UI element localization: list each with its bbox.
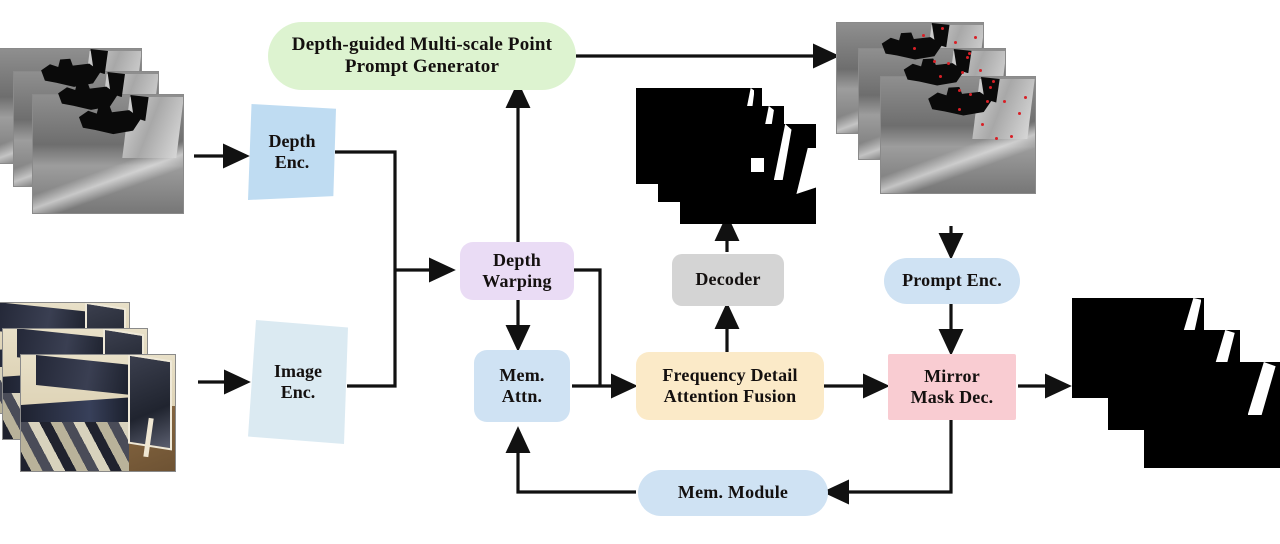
depth-input-stack <box>0 48 196 233</box>
wire-depthenc-rail <box>335 152 395 270</box>
output-mask-frame-3 <box>1144 362 1280 468</box>
depth-frame-3 <box>32 94 184 214</box>
node-mem-attn[interactable]: Mem. Attn. <box>474 350 570 422</box>
wire-imageenc-rail <box>347 270 395 386</box>
image-encoder-label: Image Enc. <box>274 361 322 403</box>
freq-fusion-label: Frequency Detail Attention Fusion <box>636 365 824 407</box>
wire-depthwarping-branch-rail <box>572 270 600 386</box>
rgb-input-stack <box>0 302 194 492</box>
depth-encoder-label: Depth Enc. <box>268 131 315 173</box>
rgb-frame-3 <box>20 354 176 472</box>
decoder-label: Decoder <box>672 269 784 290</box>
node-prompt-encoder[interactable]: Prompt Enc. <box>884 258 1020 304</box>
node-image-encoder[interactable]: Image Enc. <box>248 320 348 444</box>
prompt-encoder-label: Prompt Enc. <box>884 270 1020 291</box>
depth-warping-label: Depth Warping <box>460 250 574 292</box>
node-prompt-generator[interactable]: Depth-guided Multi-scale Point Prompt Ge… <box>268 22 576 90</box>
mirror-mask-decoder-label: Mirror Mask Dec. <box>888 366 1016 408</box>
mask-frame-3 <box>680 124 816 224</box>
mem-attn-label: Mem. Attn. <box>474 365 570 407</box>
node-mirror-mask-decoder[interactable]: Mirror Mask Dec. <box>888 354 1016 420</box>
wire-mirrormaskdec-to-memmodule <box>826 420 951 492</box>
node-depth-encoder[interactable]: Depth Enc. <box>248 104 336 200</box>
node-decoder[interactable]: Decoder <box>672 254 784 306</box>
output-mask-stack <box>1072 298 1280 506</box>
wire-memmodule-to-memattn <box>518 430 636 492</box>
point-prompt-frame-3 <box>880 76 1036 194</box>
mem-module-label: Mem. Module <box>638 482 828 503</box>
node-depth-warping[interactable]: Depth Warping <box>460 242 574 300</box>
prompt-generator-label: Depth-guided Multi-scale Point Prompt Ge… <box>268 34 576 79</box>
node-mem-module[interactable]: Mem. Module <box>638 470 828 516</box>
point-prompt-stack <box>836 22 1050 222</box>
node-frequency-detail-attention-fusion[interactable]: Frequency Detail Attention Fusion <box>636 352 824 420</box>
architecture-diagram-canvas: Depth-guided Multi-scale Point Prompt Ge… <box>0 0 1280 544</box>
intermediate-mask-stack <box>636 88 826 220</box>
